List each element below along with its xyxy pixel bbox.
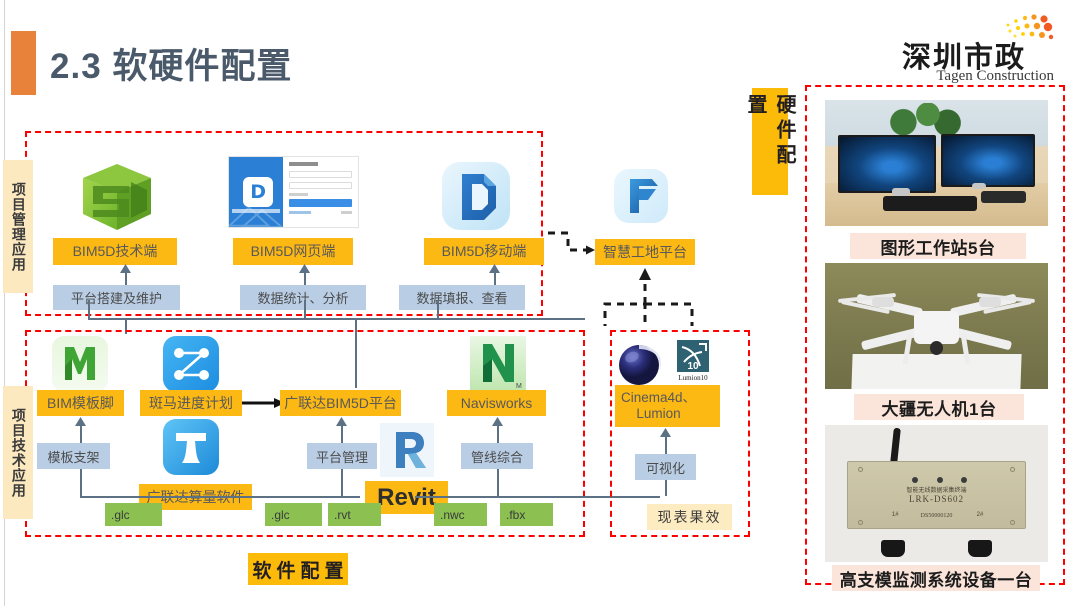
slide-root: 2.3 软硬件配置 深圳市政 Tagen Construction 项目管理应用 bbox=[0, 0, 1080, 606]
task-data-report[interactable]: 数据填报、查看 bbox=[399, 285, 525, 310]
connector-bus-files bbox=[80, 496, 360, 498]
arrow-up-icon bbox=[489, 264, 500, 273]
bim5d-desktop-icon bbox=[73, 160, 157, 232]
file-tag-nwc: .nwc bbox=[434, 503, 487, 526]
moban-icon bbox=[52, 336, 108, 392]
task-platform-build[interactable]: 平台搭建及维护 bbox=[53, 285, 180, 310]
bim5d-mobile-icon bbox=[440, 160, 512, 232]
login-username-field[interactable] bbox=[289, 171, 352, 178]
sensor-port-right: 2# bbox=[977, 512, 984, 518]
lumion-icon: 10 Lumion10 bbox=[675, 340, 711, 382]
sidebar-label-hardware: 硬件配置 bbox=[752, 88, 788, 195]
task-mobanzhijia[interactable]: 模板支架 bbox=[37, 443, 110, 469]
arrow-up-icon bbox=[660, 428, 671, 437]
connector-v bbox=[341, 469, 343, 496]
connector-v bbox=[88, 300, 90, 320]
drone-photo bbox=[825, 263, 1048, 389]
workstation-photo bbox=[825, 100, 1048, 226]
node-cinema4d-lumion-label: Cinema4d、 Lumion bbox=[621, 390, 696, 421]
caption-workstation: 图形工作站5台 bbox=[850, 233, 1026, 259]
node-smart-site-platform[interactable]: 智慧工地平台 bbox=[595, 239, 695, 265]
revit-icon bbox=[380, 423, 434, 477]
sensor-serial: DS50000120 bbox=[825, 513, 1048, 519]
sidebar-label-technical: 项目技术应用 bbox=[3, 386, 33, 519]
caption-drone: 大疆无人机1台 bbox=[854, 394, 1024, 420]
arrow-up-icon bbox=[336, 417, 347, 426]
smart-site-icon bbox=[612, 167, 670, 225]
node-bim5d-mobile[interactable]: BIM5D移动端 bbox=[424, 238, 544, 265]
connector-dashed-to-platform bbox=[548, 228, 600, 268]
svg-text:10: 10 bbox=[687, 361, 699, 372]
page-title: 2.3 软硬件配置 bbox=[50, 38, 292, 89]
software-config-badge: 软件配置 bbox=[248, 553, 348, 585]
login-register-link[interactable] bbox=[289, 211, 310, 214]
node-bim5d-desktop[interactable]: BIM5D技术端 bbox=[53, 238, 177, 265]
glodon-calc-icon bbox=[163, 419, 219, 475]
connector-v bbox=[304, 300, 306, 320]
caption-sensor: 高支模监测系统设备一台 bbox=[832, 565, 1040, 591]
node-cinema4d-lumion[interactable]: Cinema4d、 Lumion bbox=[615, 385, 720, 427]
cinema4d-icon bbox=[615, 337, 667, 389]
login-submit-button[interactable] bbox=[289, 199, 352, 207]
arrow-up-icon bbox=[75, 417, 86, 426]
sensor-port-left: 1# bbox=[892, 512, 899, 518]
title-accent-bar bbox=[11, 31, 36, 95]
lumion-version-label: Lumion10 bbox=[678, 374, 708, 382]
navisworks-icon: M bbox=[470, 336, 526, 392]
connector-v bbox=[497, 469, 499, 496]
sensor-photo: 智能无线数据采集终端 LRK-DS602 DS50000120 1# 2# bbox=[825, 425, 1048, 562]
login-form-title bbox=[289, 162, 318, 166]
connector-v bbox=[665, 480, 667, 496]
node-bim5d-web[interactable]: BIM5D网页端 bbox=[233, 238, 353, 265]
login-forgot-link[interactable] bbox=[289, 193, 308, 196]
login-password-field[interactable] bbox=[289, 182, 352, 189]
task-visualisation[interactable]: 可视化 bbox=[635, 454, 696, 480]
file-tag-rvt: .rvt bbox=[328, 503, 381, 526]
zebra-icon bbox=[163, 336, 219, 392]
login-form-panel bbox=[283, 157, 358, 227]
arrow-up-icon bbox=[299, 264, 310, 273]
node-bim-mobanjiao[interactable]: BIM模板脚 bbox=[37, 390, 124, 416]
task-data-statistics[interactable]: 数据统计、分析 bbox=[240, 285, 366, 310]
svg-text:M: M bbox=[516, 383, 522, 390]
task-pipeline-integration[interactable]: 管线综合 bbox=[461, 443, 533, 469]
connector-dashed-from-below bbox=[600, 268, 720, 331]
connector-v bbox=[80, 469, 82, 496]
file-tag-glc-1: .glc bbox=[105, 503, 162, 526]
node-glodon-bim5d[interactable]: 广联达BIM5D平台 bbox=[280, 390, 401, 416]
login-left-panel: D bbox=[229, 157, 283, 227]
file-tag-fbx: .fbx bbox=[500, 503, 553, 526]
login-bg-pattern-icon bbox=[229, 193, 283, 227]
bim5d-web-icon: D bbox=[228, 156, 359, 228]
node-zebra-schedule[interactable]: 斑马进度计划 bbox=[140, 390, 242, 416]
login-help-link[interactable] bbox=[341, 211, 352, 214]
task-platform-manage[interactable]: 平台管理 bbox=[307, 443, 377, 469]
sensor-label-line2: LRK-DS602 bbox=[825, 494, 1048, 504]
connector-bus-h bbox=[88, 318, 585, 320]
connector-v bbox=[437, 300, 439, 320]
file-tag-glc-2: .glc bbox=[265, 503, 322, 526]
node-navisworks[interactable]: Navisworks bbox=[447, 390, 546, 416]
arrow-up-icon bbox=[492, 417, 503, 426]
sidebar-label-management: 项目管理应用 bbox=[3, 160, 33, 293]
company-logo: 深圳市政 Tagen Construction bbox=[853, 8, 1068, 80]
node-visual-outcome: 现表果效 bbox=[647, 504, 732, 530]
arrow-up-icon bbox=[120, 264, 131, 273]
logo-english-name: Tagen Construction bbox=[936, 68, 1054, 85]
